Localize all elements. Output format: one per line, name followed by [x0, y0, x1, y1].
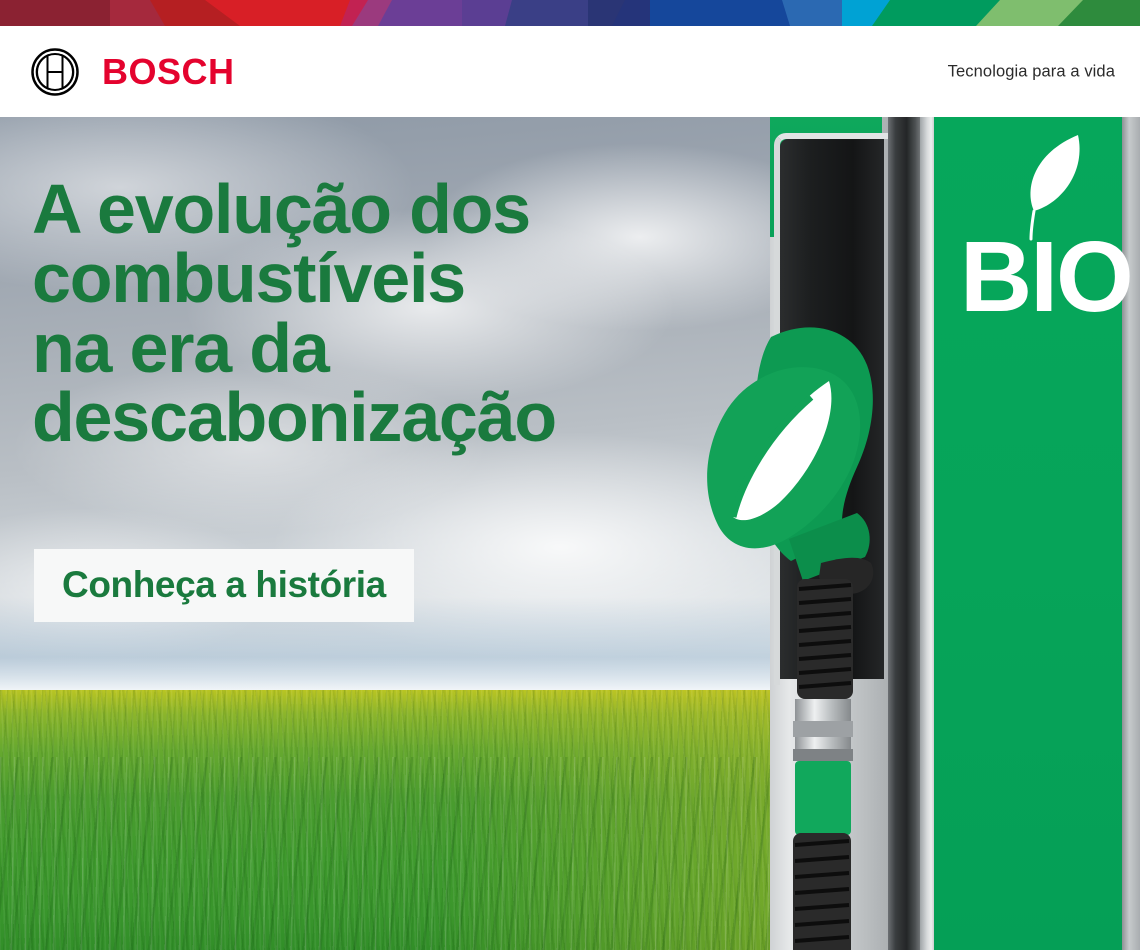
bio-label: BIO [960, 227, 1140, 327]
nozzle-assembly [670, 317, 930, 950]
fuel-pump: BIO [770, 117, 1140, 950]
hero-headline: A evolução dos combustíveis na era da de… [32, 175, 692, 452]
cta-conheca-historia-button[interactable]: Conheça a história [34, 549, 414, 622]
hero-banner[interactable]: BIO [0, 117, 1140, 950]
bosch-supergraphic [0, 0, 1140, 26]
banner-page: BOSCH Tecnologia para a vida [0, 0, 1140, 950]
bosch-wordmark: BOSCH [102, 54, 235, 90]
fuel-hose-icon [671, 317, 1041, 950]
bosch-logo[interactable]: BOSCH [30, 47, 235, 97]
brand-claim: Tecnologia para a vida [948, 62, 1115, 81]
site-header: BOSCH Tecnologia para a vida [0, 26, 1140, 117]
bosch-armature-icon [30, 47, 80, 97]
cta-label: Conheça a história [62, 564, 386, 605]
